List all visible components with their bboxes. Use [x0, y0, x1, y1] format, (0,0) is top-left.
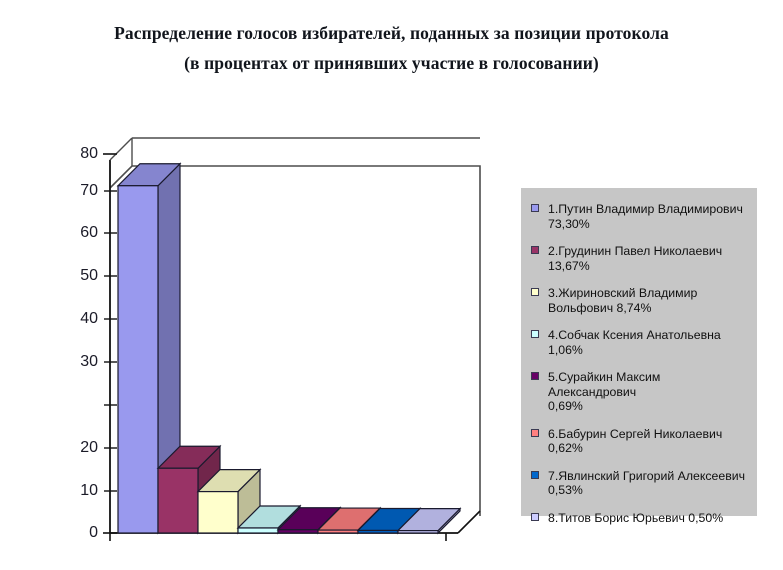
legend-item-label: 5.Сурайкин Максим Александрович 0,69%: [548, 370, 749, 414]
legend-item-3[interactable]: 3.Жириновский Владимир Вольфович 8,74%: [531, 286, 749, 315]
y-axis-tick-label: 60: [58, 224, 98, 242]
legend-item-label: 6.Бабурин Сергей Николаевич 0,62%: [548, 427, 749, 456]
legend-item-4[interactable]: 4.Собчак Ксения Анатольевна 1,06%: [531, 328, 749, 357]
y-axis-tick-label: 10: [58, 482, 98, 500]
legend-swatch-icon: [531, 471, 539, 479]
legend-item-5[interactable]: 5.Сурайкин Максим Александрович 0,69%: [531, 370, 749, 414]
legend-item-label: 4.Собчак Ксения Анатольевна 1,06%: [548, 328, 749, 357]
legend-swatch-icon: [531, 288, 539, 296]
y-axis-tick-label: 40: [58, 310, 98, 328]
y-axis-tick-label: 50: [58, 267, 98, 285]
y-axis-tick-label: 70: [58, 182, 98, 200]
chart-legend: 1.Путин Владимир Владимирович 73,30%2.Гр…: [521, 188, 757, 516]
y-axis-tick-label: 80: [58, 145, 98, 163]
legend-swatch-icon: [531, 204, 539, 212]
legend-item-1[interactable]: 1.Путин Владимир Владимирович 73,30%: [531, 202, 749, 231]
legend-swatch-icon: [531, 246, 539, 254]
y-axis-tick-label: 20: [58, 439, 98, 457]
y-axis-tick-label: 30: [58, 353, 98, 371]
legend-item-7[interactable]: 7.Явлинский Григорий Алексеевич 0,53%: [531, 469, 749, 498]
legend-swatch-icon: [531, 330, 539, 338]
bar-series: [118, 164, 460, 533]
legend-swatch-icon: [531, 372, 539, 380]
legend-item-label: 3.Жириновский Владимир Вольфович 8,74%: [548, 286, 749, 315]
legend-swatch-icon: [531, 513, 539, 521]
legend-item-label: 1.Путин Владимир Владимирович 73,30%: [548, 202, 749, 231]
legend-swatch-icon: [531, 429, 539, 437]
y-axis-tick-label: 0: [58, 524, 98, 542]
legend-item-6[interactable]: 6.Бабурин Сергей Николаевич 0,62%: [531, 427, 749, 456]
legend-item-8[interactable]: 8.Титов Борис Юрьевич 0,50%: [531, 511, 749, 526]
legend-item-2[interactable]: 2.Грудинин Павел Николаевич 13,67%: [531, 244, 749, 273]
legend-item-label: 2.Грудинин Павел Николаевич 13,67%: [548, 244, 749, 273]
legend-item-label: 8.Титов Борис Юрьевич 0,50%: [548, 511, 749, 526]
legend-item-label: 7.Явлинский Григорий Алексеевич 0,53%: [548, 469, 749, 498]
